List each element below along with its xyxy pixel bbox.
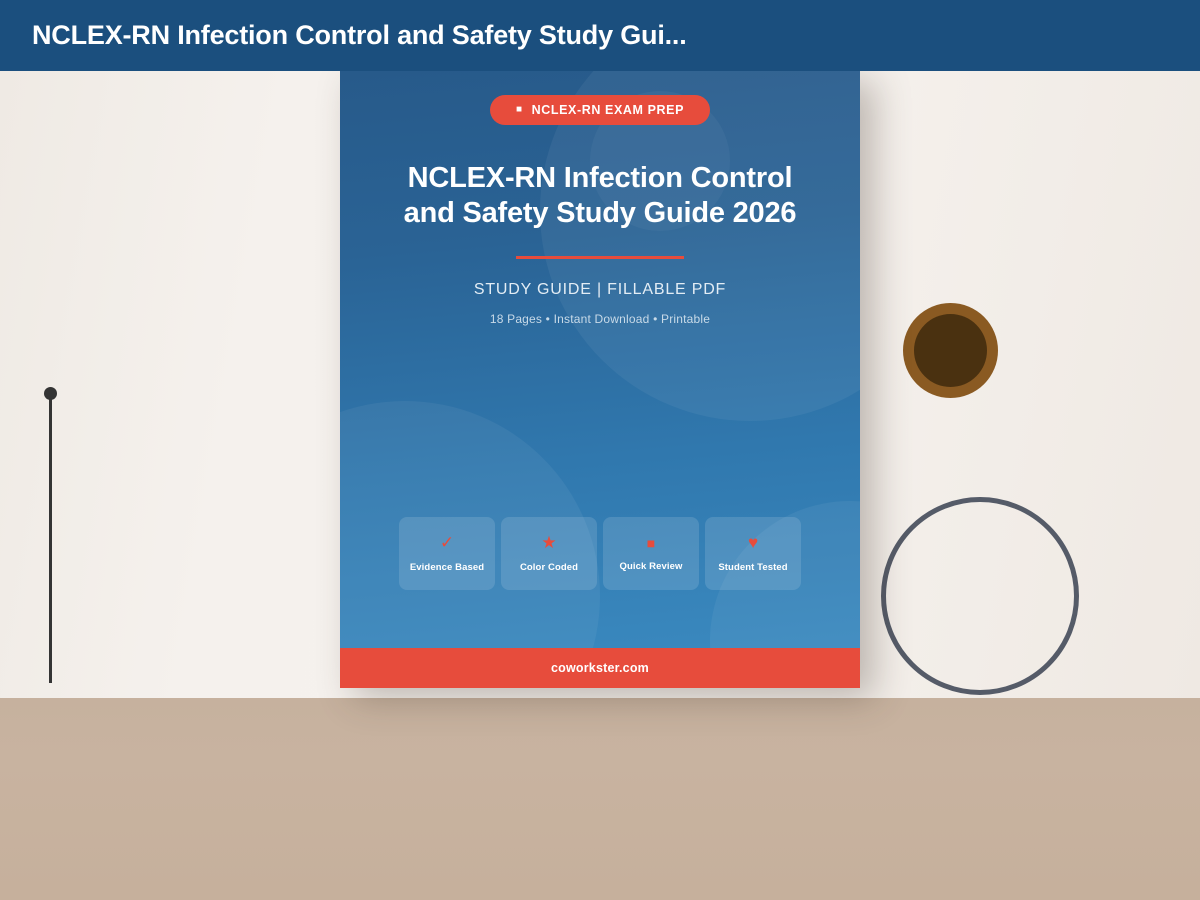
feature-card-label: Evidence Based	[410, 562, 484, 573]
poster-footer: coworkster.com	[340, 648, 860, 688]
page-title: NCLEX-RN Infection Control and Safety St…	[0, 20, 687, 51]
feature-card-list: ✓ Evidence Based ★ Color Coded ■ Quick R…	[340, 517, 860, 590]
coffee-liquid-icon	[914, 314, 987, 387]
check-icon: ✓	[440, 534, 454, 551]
title-divider	[516, 256, 684, 259]
square-icon: ■	[516, 105, 523, 115]
poster-title-line-2: and Safety Study Guide 2026	[380, 196, 820, 231]
square-icon: ■	[647, 536, 655, 550]
pen-icon	[49, 388, 52, 683]
poster-title-line-1: NCLEX-RN Infection Control	[380, 161, 820, 196]
feature-card-label: Quick Review	[620, 561, 683, 572]
poster-title: NCLEX-RN Infection Control and Safety St…	[380, 161, 820, 232]
screenshot-stage: NCLEX-RN Infection Control and Safety St…	[0, 0, 1200, 900]
feature-card-label: Color Coded	[520, 562, 578, 573]
poster: ■ NCLEX-RN EXAM PREP NCLEX-RN Infection …	[340, 71, 860, 688]
star-icon: ★	[541, 534, 556, 551]
feature-card: ♥ Student Tested	[705, 517, 801, 590]
desk-surface	[0, 698, 1200, 900]
heart-icon: ♥	[748, 534, 758, 551]
feature-card: ■ Quick Review	[603, 517, 699, 590]
pen-head-icon	[44, 387, 57, 400]
feature-card: ★ Color Coded	[501, 517, 597, 590]
poster-subtitle: STUDY GUIDE | FILLABLE PDF	[474, 281, 726, 299]
poster-footer-website: coworkster.com	[551, 661, 649, 675]
exam-prep-badge-label: NCLEX-RN EXAM PREP	[532, 103, 684, 117]
decorative-ring-icon	[881, 497, 1079, 695]
poster-meta: 18 Pages • Instant Download • Printable	[490, 312, 710, 326]
feature-card-label: Student Tested	[718, 562, 787, 573]
exam-prep-badge: ■ NCLEX-RN EXAM PREP	[490, 95, 710, 125]
feature-card: ✓ Evidence Based	[399, 517, 495, 590]
app-header: NCLEX-RN Infection Control and Safety St…	[0, 0, 1200, 71]
